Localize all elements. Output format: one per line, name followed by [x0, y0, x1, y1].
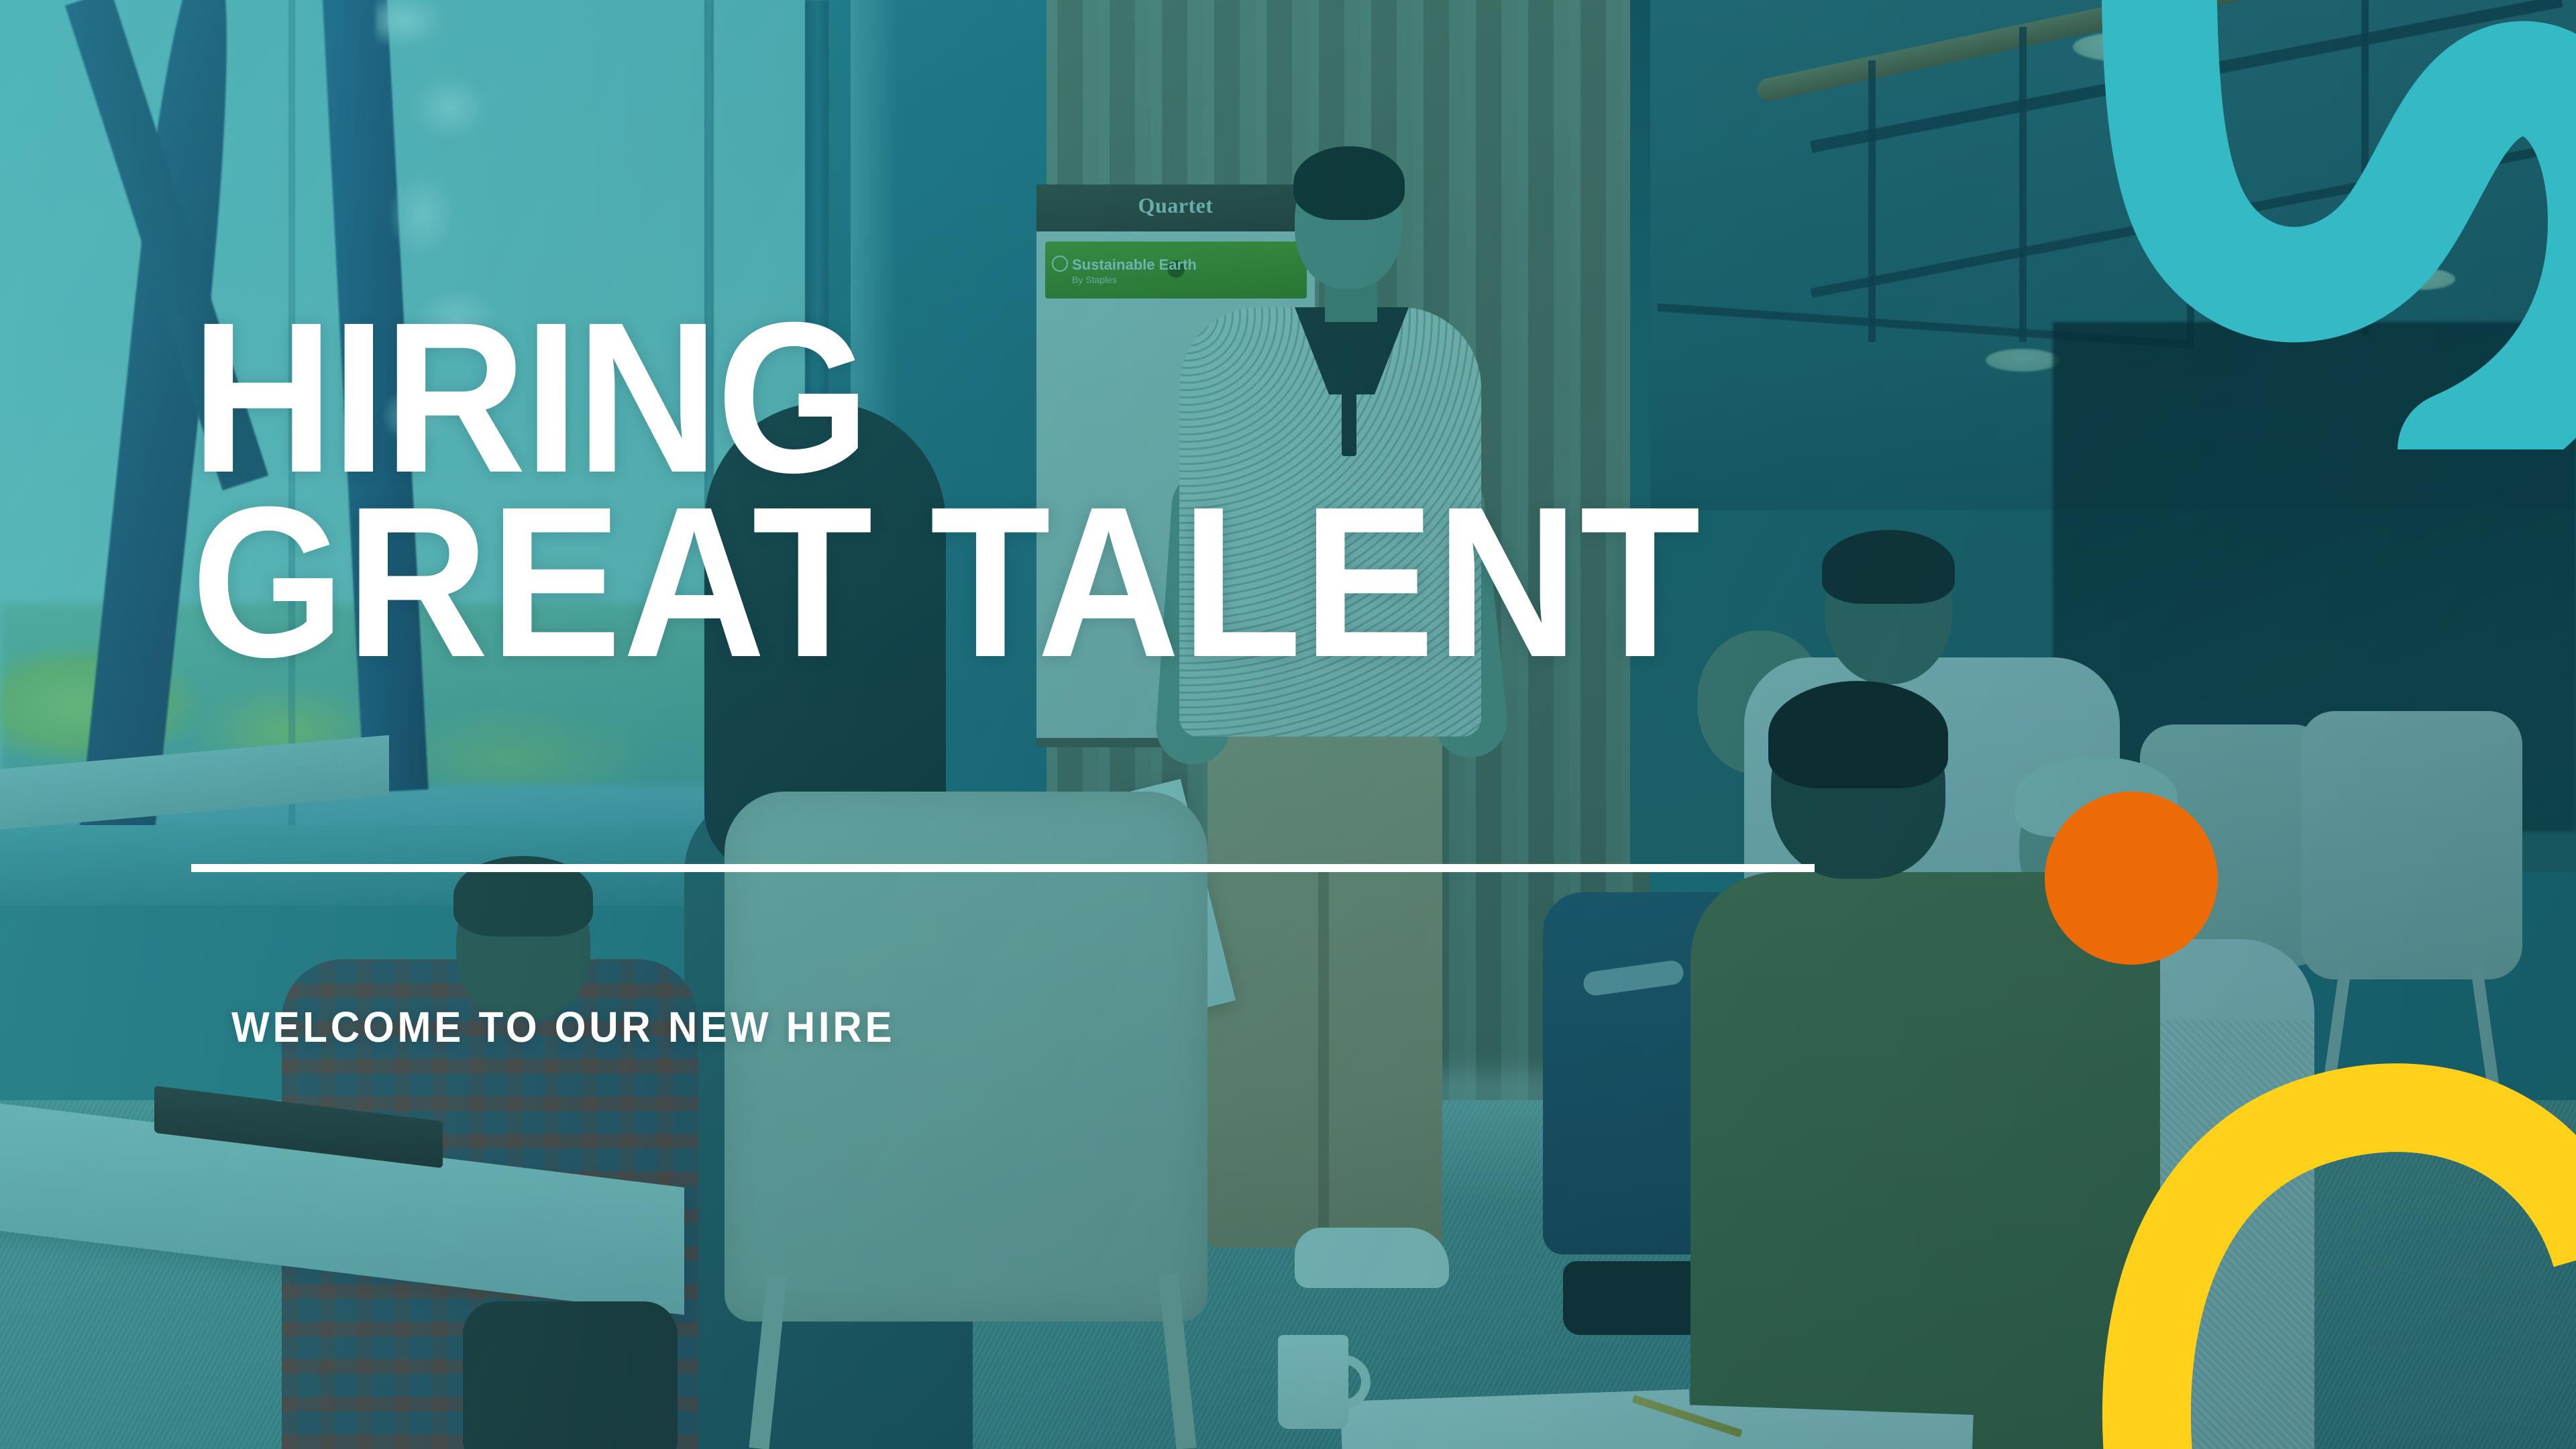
banner-copy: HIRINGGREAT TALENT WELCOME TO OUR NEW HI… [0, 0, 2576, 1449]
hiring-banner: Quartet Sustainable Earth By Staples [0, 0, 2576, 1449]
divider-rule [191, 864, 1815, 872]
headline-line-2: GREAT TALENT [191, 462, 1702, 702]
subtitle: WELCOME TO OUR NEW HIRE [231, 1002, 895, 1052]
page-title: HIRINGGREAT TALENT [191, 305, 1702, 674]
